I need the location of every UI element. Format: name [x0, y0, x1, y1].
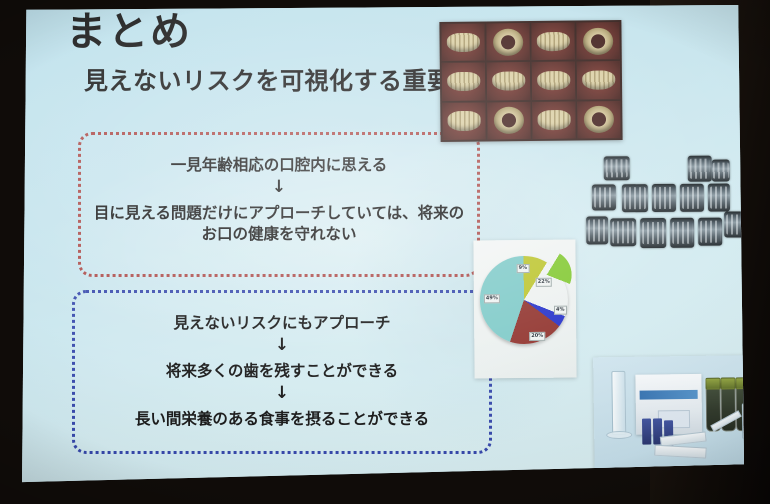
xray-film	[708, 184, 730, 212]
cylinder-base	[606, 431, 632, 439]
xray-film	[586, 216, 608, 244]
xray-film	[610, 218, 636, 246]
blue-box-arrow-1: ↓	[75, 337, 489, 354]
xray-film	[622, 184, 648, 212]
intraoral-photo-cell	[532, 101, 575, 139]
intraoral-photo-cell	[576, 22, 619, 60]
intraoral-photo-cell	[577, 101, 620, 139]
graduated-cylinder-icon	[611, 371, 626, 435]
intraoral-photo-cell	[531, 23, 574, 61]
xray-film	[698, 218, 722, 246]
dental-xray-series	[592, 156, 733, 261]
pie-label-blue: 4%	[554, 306, 567, 315]
pie-label-yellowgreen: 9%	[517, 264, 530, 273]
kit-box-chart-label	[658, 410, 690, 428]
slide-title: まとめ	[66, 12, 192, 52]
test-strip	[654, 445, 707, 459]
xray-film	[670, 218, 694, 248]
risk-pie-chart-panel: 49% 22% 9% 4% 20%	[473, 240, 576, 379]
xray-film	[640, 218, 666, 248]
projected-slide: まとめ 見えないリスクを可視化する重要性 一見年齢相応の口腔内に思える ↓ 目に…	[22, 4, 744, 486]
pie-slice-exploded-22	[521, 250, 571, 300]
xray-film	[592, 184, 616, 210]
slide-subtitle: 見えないリスクを可視化する重要性	[84, 61, 476, 96]
intraoral-photo-grid	[439, 20, 622, 142]
xray-film	[604, 156, 630, 180]
intraoral-photo-cell	[441, 23, 484, 61]
xray-film	[712, 160, 730, 182]
pie-label-green: 22%	[536, 278, 552, 287]
screenshot-stage: まとめ 見えないリスクを可視化する重要性 一見年齢相応の口腔内に思える ↓ 目に…	[0, 0, 770, 504]
red-callout-box: 一見年齢相応の口腔内に思える ↓ 目に見える問題だけにアプローチしていては、将来…	[78, 132, 480, 277]
intraoral-photo-cell	[486, 23, 529, 61]
intraoral-photo-cell	[442, 63, 485, 101]
blue-vial	[642, 419, 651, 445]
intraoral-photo-cell	[487, 102, 530, 140]
xray-film	[652, 184, 676, 212]
intraoral-photo-cell	[577, 61, 620, 99]
red-box-line-2: 目に見える問題だけにアプローチしていては、将来のお口の健康を守れない	[81, 203, 477, 245]
intraoral-photo-cell	[487, 62, 530, 100]
pie-label-teal: 49%	[484, 294, 500, 303]
xray-film	[688, 156, 712, 182]
intraoral-photo-cell	[532, 62, 575, 100]
blue-callout-box: 見えないリスクにもアプローチ ↓ 将来多くの歯を残すことができる ↓ 長い間栄養…	[72, 290, 492, 454]
red-box-line-1: 一見年齢相応の口腔内に思える	[81, 153, 477, 175]
blue-box-line-1: 見えないリスクにもアプローチ	[75, 311, 489, 333]
intraoral-photo-cell	[442, 102, 485, 140]
xray-film	[680, 184, 704, 212]
kit-box-label-band	[640, 390, 698, 400]
blue-box-line-3: 長い間栄養のある食事を摂ることができる	[75, 407, 489, 429]
red-box-arrow: ↓	[81, 179, 477, 196]
pie-label-darkred: 20%	[529, 332, 545, 341]
blue-box-line-2: 将来多くの歯を残すことができる	[75, 359, 489, 381]
blue-box-arrow-2: ↓	[75, 385, 489, 402]
